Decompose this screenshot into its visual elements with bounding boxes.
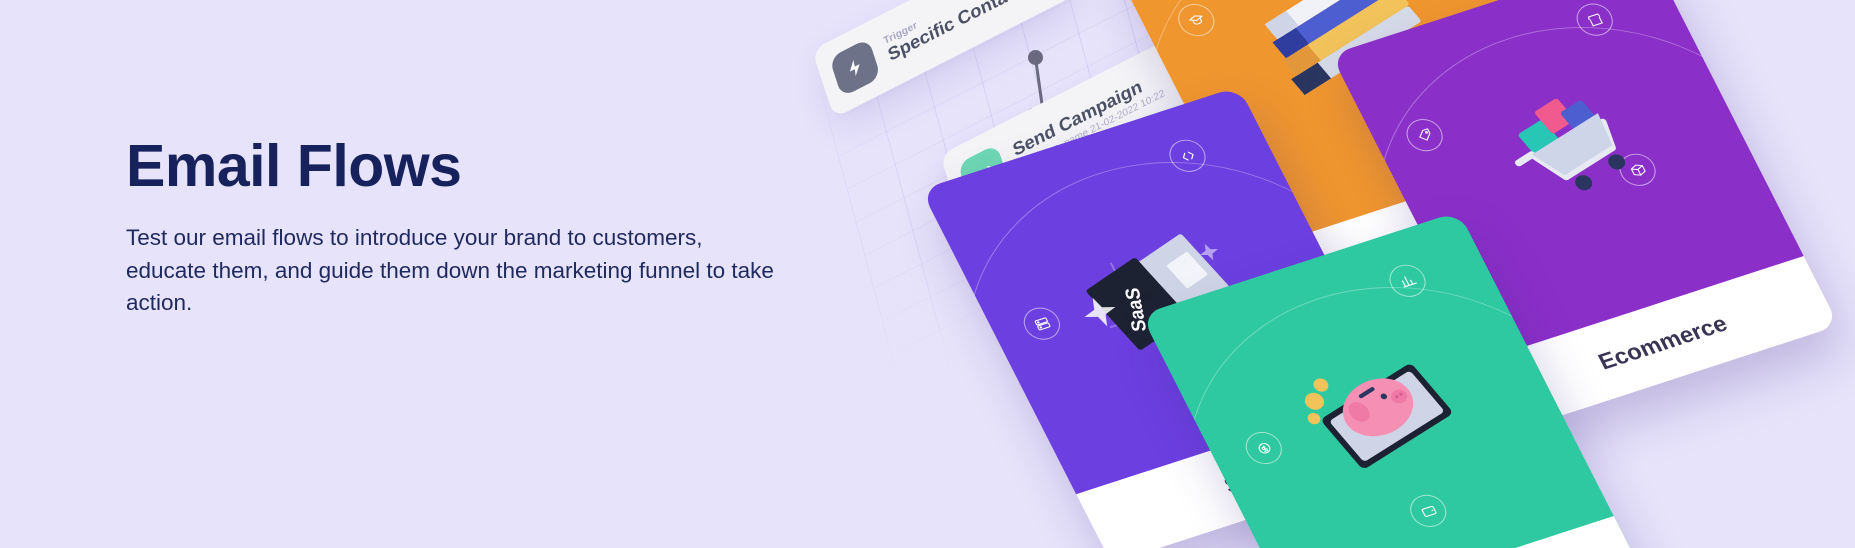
flow-illustration: Trigger Specific Contacts Send Campaign … xyxy=(760,0,1855,548)
hero-copy-block: Email Flows Test our email flows to intr… xyxy=(126,136,826,320)
hero-description: Test our email flows to introduce your b… xyxy=(126,222,776,320)
lightning-bolt-icon xyxy=(829,38,881,97)
category-label: Ecommerce xyxy=(1594,310,1732,375)
page-title: Email Flows xyxy=(126,136,826,198)
email-flows-hero: Email Flows Test our email flows to intr… xyxy=(0,0,1855,548)
